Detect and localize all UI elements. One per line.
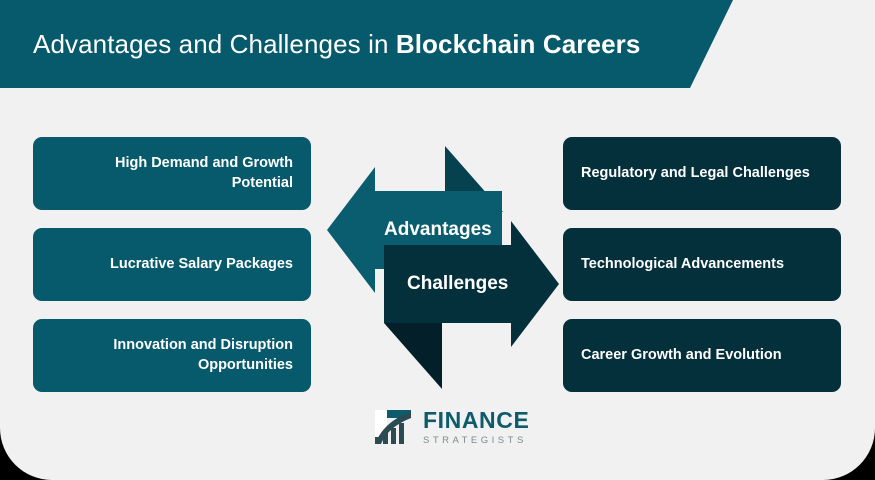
- advantage-card-3[interactable]: Innovation and Disruption Opportunities: [33, 319, 311, 392]
- challenges-arrow-label: Challenges: [407, 273, 508, 295]
- infographic-canvas: Advantages and Challenges in Blockchain …: [0, 0, 875, 480]
- brand-logo: FINANCE STRATEGISTS: [372, 407, 529, 447]
- challenges-column: Regulatory and Legal Challenges Technolo…: [563, 137, 841, 392]
- brand-name-secondary: STRATEGISTS: [423, 436, 529, 446]
- challenges-arrow-tail-shadow: [384, 323, 442, 389]
- page-title: Advantages and Challenges in Blockchain …: [0, 29, 640, 60]
- bar-chart-swoosh-icon: [372, 407, 414, 447]
- page-title-regular: Advantages and Challenges in: [33, 29, 396, 59]
- advantage-card-2[interactable]: Lucrative Salary Packages: [33, 228, 311, 301]
- center-arrows-group: Advantages Challenges: [327, 146, 559, 384]
- challenge-card-1[interactable]: Regulatory and Legal Challenges: [563, 137, 841, 210]
- advantage-card-2-label: Lucrative Salary Packages: [110, 255, 293, 274]
- advantage-card-1-label: High Demand and Growth Potential: [51, 154, 293, 192]
- advantages-column: High Demand and Growth Potential Lucrati…: [33, 137, 311, 392]
- brand-logo-text: FINANCE STRATEGISTS: [423, 409, 529, 446]
- challenge-card-2[interactable]: Technological Advancements: [563, 228, 841, 301]
- brand-name-primary: FINANCE: [423, 409, 529, 432]
- challenge-card-3[interactable]: Career Growth and Evolution: [563, 319, 841, 392]
- advantage-card-3-label: Innovation and Disruption Opportunities: [51, 336, 293, 374]
- challenge-card-3-label: Career Growth and Evolution: [581, 346, 782, 365]
- page-title-bold: Blockchain Careers: [396, 29, 641, 59]
- advantage-card-1[interactable]: High Demand and Growth Potential: [33, 137, 311, 210]
- challenge-card-1-label: Regulatory and Legal Challenges: [581, 164, 810, 183]
- header-banner: Advantages and Challenges in Blockchain …: [0, 0, 733, 88]
- challenge-card-2-label: Technological Advancements: [581, 255, 784, 274]
- advantages-arrow-label: Advantages: [384, 219, 492, 241]
